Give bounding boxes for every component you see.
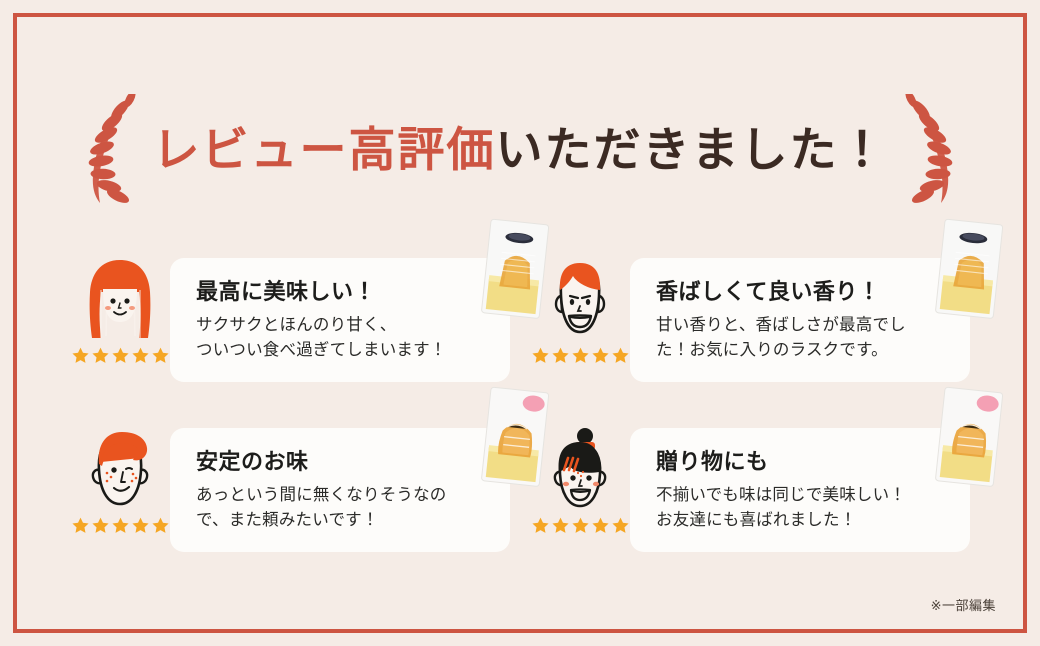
star-rating-2 (531, 346, 630, 365)
review-title-4: 贈り物にも (656, 450, 944, 476)
promo-page: レビュー高評価いただきました！ (0, 0, 1040, 646)
star-icon (71, 346, 90, 365)
review-body-1: サクサクとほんのり甘く、 ついつい食べ過ぎてしまいます！ (196, 313, 484, 362)
reviewer-persona-4 (530, 392, 630, 535)
reviewer-persona-1 (70, 222, 170, 365)
star-icon (151, 516, 170, 535)
star-icon (531, 346, 550, 365)
review-bubble-4: 贈り物にも 不揃いでも味は同じで美味しい！ お友達にも喜ばれました！ (630, 428, 970, 552)
star-icon (531, 516, 550, 535)
star-icon (131, 516, 150, 535)
reviewer-persona-2 (530, 222, 630, 365)
star-rating-4 (531, 516, 630, 535)
review-bubble-3: 安定のお味 あっという間に無くなりそうなの で、また頼みたいです！ (170, 428, 510, 552)
review-body-line: お友達にも喜ばれました！ (656, 508, 944, 532)
star-rating-1 (71, 346, 170, 365)
star-icon (71, 516, 90, 535)
review-body-line: た！お気に入りのラスクです。 (656, 338, 944, 362)
review-card-2: 香ばしくて良い香り！ 甘い香りと、香ばしさが最高でし た！お気に入りのラスクです… (530, 222, 970, 392)
review-title-2: 香ばしくて良い香り！ (656, 280, 944, 306)
review-title-3: 安定のお味 (196, 450, 484, 476)
product-photo-2 (927, 216, 1015, 324)
laurel-branch-right-icon (896, 94, 962, 206)
laurel-branch-left-icon (79, 94, 145, 206)
star-icon (151, 346, 170, 365)
short-hair-boy-avatar-icon (537, 256, 623, 344)
star-icon (551, 516, 570, 535)
review-body-3: あっという間に無くなりそうなの で、また頼みたいです！ (196, 483, 484, 532)
review-body-line: ついつい食べ過ぎてしまいます！ (196, 338, 484, 362)
star-icon (591, 346, 610, 365)
bun-hair-girl-avatar-icon (537, 426, 623, 514)
review-bubble-2: 香ばしくて良い香り！ 甘い香りと、香ばしさが最高でし た！お気に入りのラスクです… (630, 258, 970, 382)
review-body-4: 不揃いでも味は同じで美味しい！ お友達にも喜ばれました！ (656, 483, 944, 532)
star-icon (131, 346, 150, 365)
review-card-3: 安定のお味 あっという間に無くなりそうなの で、また頼みたいです！ (70, 392, 530, 562)
star-icon (111, 346, 130, 365)
review-title-1: 最高に美味しい！ (196, 280, 484, 306)
page-title-accent: レビュー高評価 (153, 123, 496, 178)
star-icon (571, 516, 590, 535)
review-bubble-1: 最高に美味しい！ サクサクとほんのり甘く、 ついつい食べ過ぎてしまいます！ (170, 258, 510, 382)
review-body-line: 不揃いでも味は同じで美味しい！ (656, 483, 944, 507)
swoop-hair-man-avatar-icon (77, 426, 163, 514)
review-body-line: 甘い香りと、香ばしさが最高でし (656, 313, 944, 337)
review-card-1: 最高に美味しい！ サクサクとほんのり甘く、 ついつい食べ過ぎてしまいます！ (70, 222, 530, 392)
review-body-2: 甘い香りと、香ばしさが最高でし た！お気に入りのラスクです。 (656, 313, 944, 362)
long-hair-girl-avatar-icon (77, 256, 163, 344)
page-title: レビュー高評価いただきました！ (153, 127, 888, 174)
review-card-4: 贈り物にも 不揃いでも味は同じで美味しい！ お友達にも喜ばれました！ (530, 392, 970, 562)
star-icon (551, 346, 570, 365)
review-body-line: サクサクとほんのり甘く、 (196, 313, 484, 337)
star-icon (91, 516, 110, 535)
star-icon (111, 516, 130, 535)
star-icon (591, 516, 610, 535)
review-body-line: あっという間に無くなりそうなの (196, 483, 484, 507)
page-title-rest: いただきました！ (496, 123, 888, 178)
star-icon (611, 346, 630, 365)
page-title-row: レビュー高評価いただきました！ (0, 92, 1040, 208)
footnote-text: ※一部編集 (931, 595, 996, 614)
star-icon (91, 346, 110, 365)
star-rating-3 (71, 516, 170, 535)
review-grid: 最高に美味しい！ サクサクとほんのり甘く、 ついつい食べ過ぎてしまいます！ (70, 222, 970, 562)
reviewer-persona-3 (70, 392, 170, 535)
star-icon (571, 346, 590, 365)
star-icon (611, 516, 630, 535)
review-body-line: で、また頼みたいです！ (196, 508, 484, 532)
